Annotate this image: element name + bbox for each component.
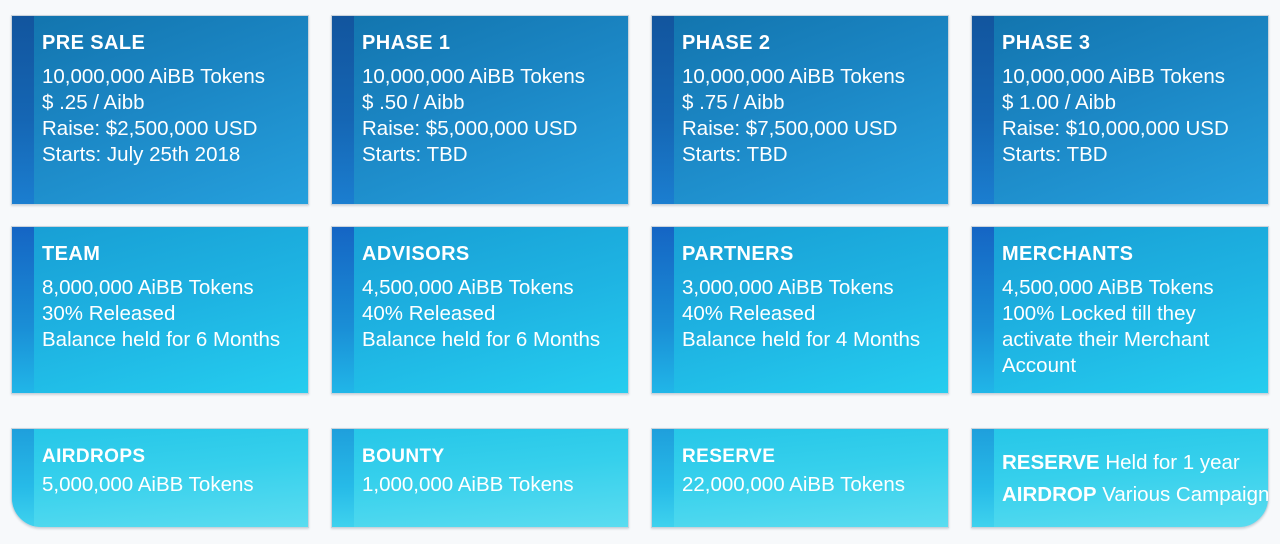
card-line: $ 1.00 / Aibb: [1002, 90, 1254, 116]
card-line: Balance held for 6 Months: [42, 327, 294, 353]
card-cell: PHASE 3 10,000,000 AiBB Tokens $ 1.00 / …: [960, 15, 1280, 205]
card-line: 40% Released: [682, 301, 934, 327]
card-body: PHASE 2 10,000,000 AiBB Tokens $ .75 / A…: [652, 16, 948, 204]
card-body: BOUNTY 1,000,000 AiBB Tokens: [332, 429, 628, 527]
card-cell: ADVISORS 4,500,000 AiBB Tokens 40% Relea…: [320, 226, 640, 394]
card-line: 4,500,000 AiBB Tokens: [1002, 275, 1254, 301]
card-cell: PHASE 2 10,000,000 AiBB Tokens $ .75 / A…: [640, 15, 960, 205]
card-lines: 8,000,000 AiBB Tokens 30% Released Balan…: [42, 275, 294, 353]
card-reserve[interactable]: RESERVE 22,000,000 AiBB Tokens: [651, 428, 949, 528]
card-merchants[interactable]: MERCHANTS 4,500,000 AiBB Tokens 100% Loc…: [971, 226, 1269, 394]
card-line: 1,000,000 AiBB Tokens: [362, 472, 614, 498]
card-lines: 3,000,000 AiBB Tokens 40% Released Balan…: [682, 275, 934, 353]
card-lines: 4,500,000 AiBB Tokens 100% Locked till t…: [1002, 275, 1254, 379]
card-body: MERCHANTS 4,500,000 AiBB Tokens 100% Loc…: [972, 227, 1268, 393]
card-line: $ .75 / Aibb: [682, 90, 934, 116]
card-line: 4,500,000 AiBB Tokens: [362, 275, 614, 301]
card-line: $ .25 / Aibb: [42, 90, 294, 116]
card-line: Balance held for 6 Months: [362, 327, 614, 353]
card-phase-3[interactable]: PHASE 3 10,000,000 AiBB Tokens $ 1.00 / …: [971, 15, 1269, 205]
summary-pair: AIRDROP Various Campaigns: [1002, 479, 1254, 511]
card-line: Raise: $10,000,000 USD: [1002, 116, 1254, 142]
card-lines: 5,000,000 AiBB Tokens: [42, 472, 294, 498]
card-body: PHASE 3 10,000,000 AiBB Tokens $ 1.00 / …: [972, 16, 1268, 204]
sale-phases-row: PRE SALE 10,000,000 AiBB Tokens $ .25 / …: [0, 15, 1280, 205]
summary-pair: RESERVE Held for 1 year: [1002, 447, 1254, 479]
card-line: 5,000,000 AiBB Tokens: [42, 472, 294, 498]
card-team[interactable]: TEAM 8,000,000 AiBB Tokens 30% Released …: [11, 226, 309, 394]
card-body: PRE SALE 10,000,000 AiBB Tokens $ .25 / …: [12, 16, 308, 204]
card-body: RESERVE Held for 1 year AIRDROP Various …: [972, 429, 1268, 527]
card-body: RESERVE 22,000,000 AiBB Tokens: [652, 429, 948, 527]
card-reserve-airdrop-summary[interactable]: RESERVE Held for 1 year AIRDROP Various …: [971, 428, 1269, 528]
card-cell: MERCHANTS 4,500,000 AiBB Tokens 100% Loc…: [960, 226, 1280, 394]
card-pre-sale[interactable]: PRE SALE 10,000,000 AiBB Tokens $ .25 / …: [11, 15, 309, 205]
card-cell: PHASE 1 10,000,000 AiBB Tokens $ .50 / A…: [320, 15, 640, 205]
card-line: Raise: $5,000,000 USD: [362, 116, 614, 142]
card-line: 10,000,000 AiBB Tokens: [362, 64, 614, 90]
card-title: BOUNTY: [362, 447, 614, 468]
card-cell: RESERVE Held for 1 year AIRDROP Various …: [960, 428, 1280, 528]
card-title: PHASE 1: [362, 32, 614, 54]
card-body: AIRDROPS 5,000,000 AiBB Tokens: [12, 429, 308, 527]
summary-pairs: RESERVE Held for 1 year AIRDROP Various …: [1002, 447, 1254, 511]
card-lines: 10,000,000 AiBB Tokens $ .75 / Aibb Rais…: [682, 64, 934, 168]
card-advisors[interactable]: ADVISORS 4,500,000 AiBB Tokens 40% Relea…: [331, 226, 629, 394]
card-title: PARTNERS: [682, 243, 934, 265]
card-line: Starts: TBD: [682, 142, 934, 168]
card-title: TEAM: [42, 243, 294, 265]
card-phase-1[interactable]: PHASE 1 10,000,000 AiBB Tokens $ .50 / A…: [331, 15, 629, 205]
card-body: PARTNERS 3,000,000 AiBB Tokens 40% Relea…: [652, 227, 948, 393]
summary-pair-key: AIRDROP: [1002, 483, 1097, 506]
card-lines: 22,000,000 AiBB Tokens: [682, 472, 934, 498]
card-line: $ .50 / Aibb: [362, 90, 614, 116]
card-phase-2[interactable]: PHASE 2 10,000,000 AiBB Tokens $ .75 / A…: [651, 15, 949, 205]
card-line: 40% Released: [362, 301, 614, 327]
card-line: 22,000,000 AiBB Tokens: [682, 472, 934, 498]
card-airdrops[interactable]: AIRDROPS 5,000,000 AiBB Tokens: [11, 428, 309, 528]
card-title: PHASE 3: [1002, 32, 1254, 54]
card-line: 100% Locked till they activate their Mer…: [1002, 301, 1254, 379]
card-lines: 4,500,000 AiBB Tokens 40% Released Balan…: [362, 275, 614, 353]
summary-pair-value: Held for 1 year: [1105, 451, 1239, 474]
card-lines: 10,000,000 AiBB Tokens $ .25 / Aibb Rais…: [42, 64, 294, 168]
card-line: Starts: July 25th 2018: [42, 142, 294, 168]
card-cell: TEAM 8,000,000 AiBB Tokens 30% Released …: [0, 226, 320, 394]
card-cell: PARTNERS 3,000,000 AiBB Tokens 40% Relea…: [640, 226, 960, 394]
card-title: MERCHANTS: [1002, 243, 1254, 265]
card-line: Raise: $2,500,000 USD: [42, 116, 294, 142]
card-title: PHASE 2: [682, 32, 934, 54]
card-cell: RESERVE 22,000,000 AiBB Tokens: [640, 428, 960, 528]
card-line: 3,000,000 AiBB Tokens: [682, 275, 934, 301]
card-line: Balance held for 4 Months: [682, 327, 934, 353]
summary-pair-key: RESERVE: [1002, 451, 1100, 474]
card-line: 30% Released: [42, 301, 294, 327]
card-line: 10,000,000 AiBB Tokens: [42, 64, 294, 90]
card-title: PRE SALE: [42, 32, 294, 54]
card-title: AIRDROPS: [42, 447, 294, 468]
card-body: ADVISORS 4,500,000 AiBB Tokens 40% Relea…: [332, 227, 628, 393]
card-line: Raise: $7,500,000 USD: [682, 116, 934, 142]
card-line: 10,000,000 AiBB Tokens: [682, 64, 934, 90]
card-cell: AIRDROPS 5,000,000 AiBB Tokens: [0, 428, 320, 528]
card-lines: 1,000,000 AiBB Tokens: [362, 472, 614, 498]
allocation-groups-row: TEAM 8,000,000 AiBB Tokens 30% Released …: [0, 226, 1280, 394]
card-line: 10,000,000 AiBB Tokens: [1002, 64, 1254, 90]
card-line: 8,000,000 AiBB Tokens: [42, 275, 294, 301]
reserves-and-campaigns-row: AIRDROPS 5,000,000 AiBB Tokens BOUNTY 1,…: [0, 428, 1280, 528]
card-bounty[interactable]: BOUNTY 1,000,000 AiBB Tokens: [331, 428, 629, 528]
card-lines: 10,000,000 AiBB Tokens $ .50 / Aibb Rais…: [362, 64, 614, 168]
card-cell: PRE SALE 10,000,000 AiBB Tokens $ .25 / …: [0, 15, 320, 205]
card-cell: BOUNTY 1,000,000 AiBB Tokens: [320, 428, 640, 528]
summary-pair-value: Various Campaigns: [1102, 483, 1269, 506]
token-distribution-board: PRE SALE 10,000,000 AiBB Tokens $ .25 / …: [0, 0, 1280, 544]
card-partners[interactable]: PARTNERS 3,000,000 AiBB Tokens 40% Relea…: [651, 226, 949, 394]
card-body: PHASE 1 10,000,000 AiBB Tokens $ .50 / A…: [332, 16, 628, 204]
card-line: Starts: TBD: [1002, 142, 1254, 168]
card-body: TEAM 8,000,000 AiBB Tokens 30% Released …: [12, 227, 308, 393]
card-line: Starts: TBD: [362, 142, 614, 168]
card-lines: 10,000,000 AiBB Tokens $ 1.00 / Aibb Rai…: [1002, 64, 1254, 168]
card-title: ADVISORS: [362, 243, 614, 265]
card-title: RESERVE: [682, 447, 934, 468]
